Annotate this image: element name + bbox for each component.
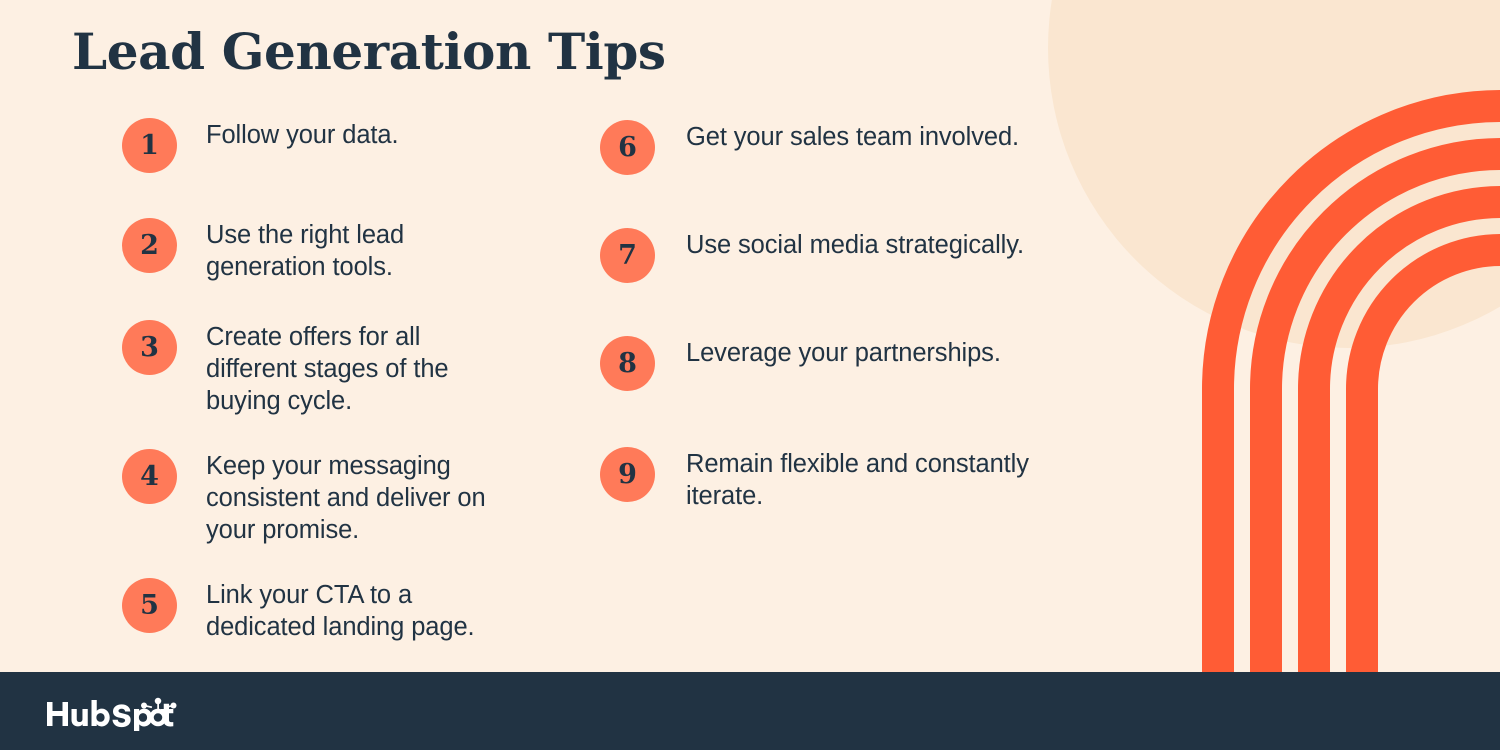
tip-text: Link your CTA to a dedicated landing pag…: [206, 578, 482, 643]
tip-text: Keep your messaging consistent and deliv…: [206, 449, 497, 546]
tip-number-badge: 6: [600, 120, 655, 175]
tip-text: Remain flexible and constantly iterate.: [686, 447, 1070, 512]
tip-text: Follow your data.: [206, 118, 398, 151]
tip-item-5: 5 Link your CTA to a dedicated landing p…: [122, 578, 482, 643]
tip-text: Get your sales team involved.: [686, 120, 1019, 153]
tip-text: Use the right lead generation tools.: [206, 218, 412, 283]
page-title: Lead Generation Tips: [72, 22, 666, 81]
infographic-canvas: Lead Generation Tips 1 Follow your data.…: [0, 0, 1500, 750]
tip-item-6: 6 Get your sales team involved.: [600, 120, 1019, 175]
tip-item-1: 1 Follow your data.: [122, 118, 398, 173]
tip-number-badge: 2: [122, 218, 177, 273]
tip-text: Use social media strategically.: [686, 228, 1024, 261]
tip-number-badge: 1: [122, 118, 177, 173]
tip-item-9: 9 Remain flexible and constantly iterate…: [600, 447, 1070, 512]
hubspot-sprocket-logo: [44, 691, 184, 731]
tip-number-badge: 8: [600, 336, 655, 391]
background-circle-decor: [1048, 0, 1500, 348]
tip-item-4: 4 Keep your messaging consistent and del…: [122, 449, 497, 546]
tip-item-7: 7 Use social media strategically.: [600, 228, 1024, 283]
tip-number-badge: 7: [600, 228, 655, 283]
tip-item-2: 2 Use the right lead generation tools.: [122, 218, 412, 283]
footer-bar: [0, 672, 1500, 750]
tip-number-badge: 4: [122, 449, 177, 504]
tip-number-badge: 5: [122, 578, 177, 633]
tip-item-3: 3 Create offers for all different stages…: [122, 320, 462, 417]
tip-item-8: 8 Leverage your partnerships.: [600, 336, 1001, 391]
tip-text: Create offers for all different stages o…: [206, 320, 462, 417]
tip-number-badge: 3: [122, 320, 177, 375]
tip-number-badge: 9: [600, 447, 655, 502]
tip-text: Leverage your partnerships.: [686, 336, 1001, 369]
